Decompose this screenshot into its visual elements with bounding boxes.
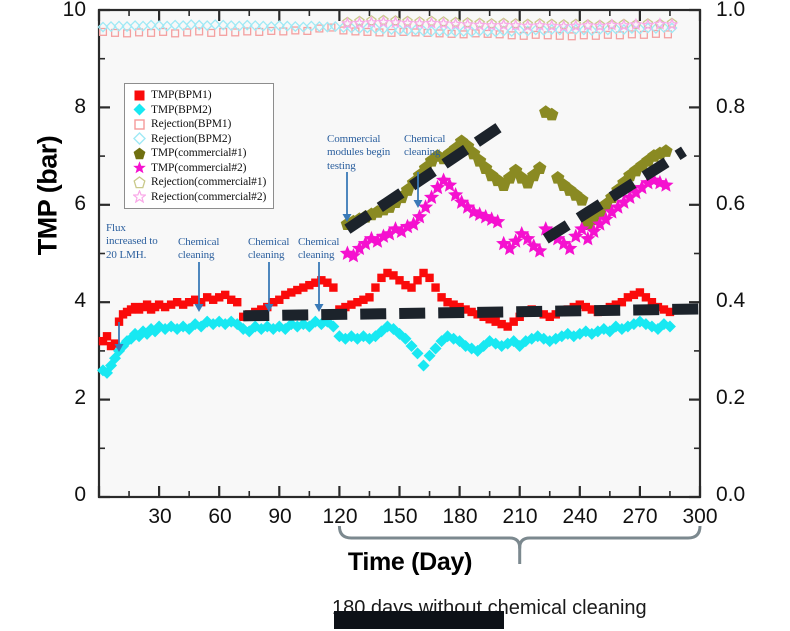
y2-axis-title: Rejection <box>787 86 790 306</box>
annotation-arrow-4 <box>315 262 324 312</box>
x-tick-label: 180 <box>430 505 490 529</box>
annotation-arrow-5 <box>343 172 352 222</box>
y-tick-label: 4 <box>46 289 86 313</box>
y-tick-label: 2 <box>46 386 86 410</box>
brace <box>339 526 700 548</box>
y2-tick-label: 0.6 <box>716 192 764 216</box>
series-tmpbpm1 <box>99 269 674 350</box>
series-tmpcommercial2 <box>340 172 674 262</box>
y-tick-label: 10 <box>46 0 86 22</box>
filled-star-icon <box>130 161 148 174</box>
chart-figure: TMP (bar) Rejection Time (Day) 10 8 6 4 … <box>0 0 790 631</box>
series-rejectioncommercial2 <box>342 17 676 31</box>
annotation-line: cleaning <box>404 146 466 159</box>
y2-tick-label: 0.8 <box>716 95 764 119</box>
legend: TMP(BPM1) TMP(BPM2) Rejection(BPM1) Reje… <box>124 83 274 209</box>
annotation-line: testing <box>327 160 405 173</box>
series-rejectionbpm2 <box>98 20 676 37</box>
annotation-line: Flux <box>106 222 178 235</box>
x-tick-label: 60 <box>190 505 250 529</box>
open-square-icon <box>130 119 148 130</box>
annotation-arrow-6 <box>414 172 423 208</box>
legend-label: Rejection(BPM1) <box>151 118 231 130</box>
annotation-line: cleaning <box>298 249 360 262</box>
legend-item-tmp-commercial1[interactable]: TMP(commercial#1) <box>130 146 266 161</box>
legend-item-tmp-bpm1[interactable]: TMP(BPM1) <box>130 88 266 103</box>
annotation-line: Chemical <box>298 236 360 249</box>
annotation-line: 20 LMH. <box>106 249 178 262</box>
y2-tick-label: 0.0 <box>716 483 764 507</box>
legend-item-tmp-commercial2[interactable]: TMP(commercial#2) <box>130 161 266 176</box>
open-star-icon <box>130 190 148 203</box>
filled-square-icon <box>130 90 148 101</box>
legend-item-tmp-bpm2[interactable]: TMP(BPM2) <box>130 103 266 118</box>
filled-pentagon-icon <box>130 147 148 160</box>
legend-label: Rejection(BPM2) <box>151 133 231 145</box>
commercial-trend-2 <box>546 151 684 239</box>
legend-item-rejection-commercial1[interactable]: Rejection(commercial#1) <box>130 175 266 190</box>
y2-tick-label: 0.4 <box>716 289 764 313</box>
annotation-line: modules begin <box>327 146 405 159</box>
annotation-flux: Flux increased to 20 LMH. <box>106 222 178 262</box>
legend-label: Rejection(commercial#2) <box>151 191 266 203</box>
annotation-line: cleaning <box>178 249 240 262</box>
x-tick-label: 30 <box>130 505 190 529</box>
legend-label: Rejection(commercial#1) <box>151 176 266 188</box>
y2-tick-label: 0.2 <box>716 386 764 410</box>
annotation-chemical-cleaning-1: Chemical cleaning <box>178 236 240 263</box>
legend-item-rejection-bpm2[interactable]: Rejection(BPM2) <box>130 132 266 147</box>
x-tick-label: 270 <box>610 505 670 529</box>
filled-diamond-icon <box>130 103 148 116</box>
legend-item-rejection-commercial2[interactable]: Rejection(commercial#2) <box>130 190 266 205</box>
annotation-arrow-3 <box>265 262 274 312</box>
series-tmpbpm2 <box>97 316 676 379</box>
x-tick-label: 120 <box>310 505 370 529</box>
series-rejectioncommercial1 <box>343 15 677 29</box>
annotation-commercial-modules: Commercial modules begin testing <box>327 133 405 173</box>
redaction-bar <box>334 611 504 629</box>
x-tick-label: 90 <box>250 505 310 529</box>
plot-area <box>0 0 790 631</box>
y-tick-label: 0 <box>46 483 86 507</box>
legend-item-rejection-bpm1[interactable]: Rejection(BPM1) <box>130 117 266 132</box>
annotation-line: increased to <box>106 235 178 248</box>
y2-tick-label: 1.0 <box>716 0 764 22</box>
legend-label: TMP(commercial#1) <box>151 147 246 159</box>
x-tick-label: 210 <box>490 505 550 529</box>
x-axis-title: Time (Day) <box>280 548 540 577</box>
open-diamond-icon <box>130 132 148 145</box>
x-tick-label: 240 <box>550 505 610 529</box>
y-tick-label: 8 <box>46 95 86 119</box>
series-rejectionbpm1 <box>100 24 672 40</box>
annotation-line: Chemical <box>178 236 240 249</box>
annotation-chemical-cleaning-3: Chemical cleaning <box>298 236 360 263</box>
open-pentagon-icon <box>130 176 148 189</box>
x-tick-label: 300 <box>670 505 730 529</box>
legend-label: TMP(commercial#2) <box>151 162 246 174</box>
x-tick-label: 150 <box>370 505 430 529</box>
annotation-line: Commercial <box>327 133 405 146</box>
annotation-chemical-cleaning-4: Chemical cleaning <box>404 133 466 160</box>
annotation-arrow-1 <box>115 322 124 352</box>
annotation-arrow-2 <box>195 262 204 312</box>
legend-label: TMP(BPM1) <box>151 89 211 101</box>
legend-label: TMP(BPM2) <box>151 104 211 116</box>
bpm-trend <box>243 309 700 316</box>
y-tick-label: 6 <box>46 192 86 216</box>
annotation-line: Chemical <box>404 133 466 146</box>
